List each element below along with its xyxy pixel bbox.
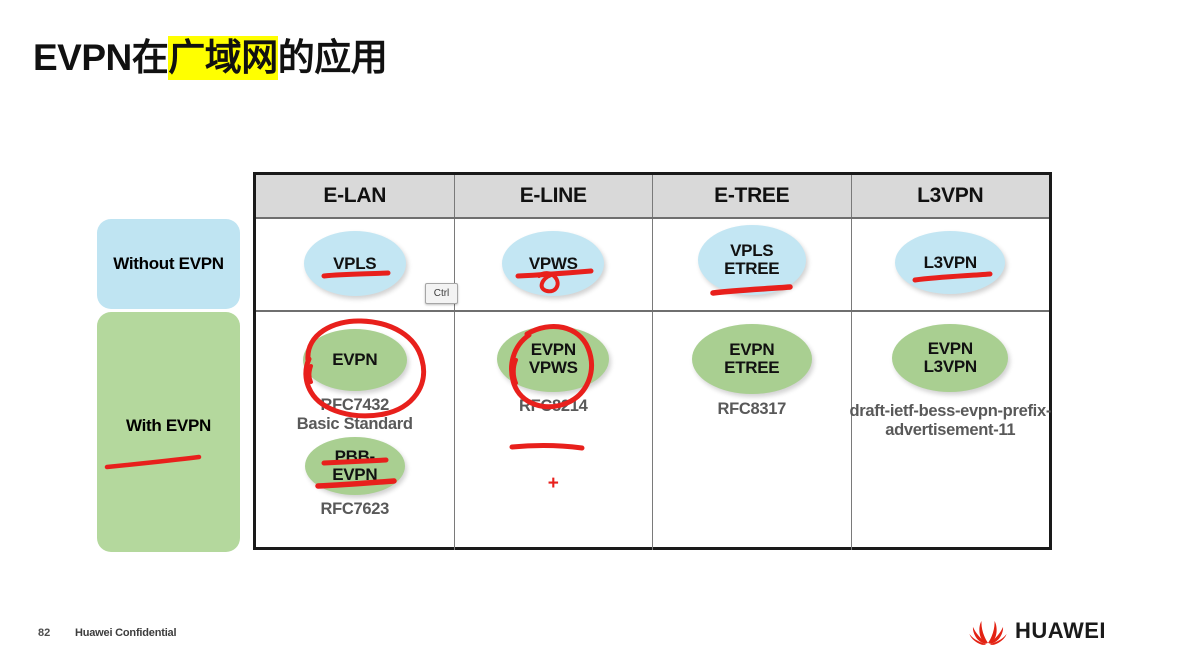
title-prefix: EVPN在 — [33, 37, 168, 78]
node-l3vpn: L3VPN — [895, 231, 1005, 294]
node-vpws-label: VPWS — [529, 255, 578, 273]
huawei-logo-text: HUAWEI — [1015, 618, 1106, 644]
node-evpn-etree-line1: EVPN — [729, 341, 774, 359]
caption-draft-ietf-bess: draft-ietf-bess-evpn-prefix-advertisemen… — [844, 402, 1058, 439]
node-l3vpn-label: L3VPN — [924, 254, 977, 272]
node-vpws: VPWS — [502, 231, 604, 296]
caption-rfc7623: RFC7623 — [256, 500, 454, 519]
title-suffix: 的应用 — [278, 37, 388, 78]
ctrl-key-label: Ctrl — [434, 288, 450, 299]
node-pbb-evpn-line2: EVPN — [332, 466, 377, 484]
node-pbb-evpn-line1: PBB- — [335, 448, 375, 466]
node-vpls-etree: VPLS ETREE — [698, 225, 806, 295]
caption-rfc7432: RFC7432 — [256, 396, 454, 415]
node-vpls-etree-line2: ETREE — [724, 260, 779, 278]
node-evpn: EVPN — [303, 329, 407, 391]
node-evpn-etree: EVPN ETREE — [692, 324, 812, 394]
side-label-without-evpn: Without EVPN — [97, 219, 240, 309]
node-evpn-vpws-line2: VPWS — [529, 359, 578, 377]
page-title: EVPN在广域网的应用 — [33, 36, 387, 80]
caption-rfc8214: RFC8214 — [455, 397, 653, 416]
table-header-e-lan: E-LAN — [256, 175, 455, 217]
title-highlight: 广域网 — [168, 36, 278, 80]
cell-with-e-tree: EVPN ETREE RFC8317 — [653, 312, 852, 550]
node-pbb-evpn: PBB- EVPN — [305, 437, 405, 495]
node-vpls: VPLS — [304, 231, 406, 296]
caption-basic-standard: Basic Standard — [256, 415, 454, 434]
table-row: VPLS VPWS VPLS ETREE — [256, 219, 1049, 312]
cell-with-e-lan: EVPN RFC7432 Basic Standard PBB- EVPN RF… — [256, 312, 455, 550]
cell-without-e-tree: VPLS ETREE — [653, 219, 852, 310]
node-evpn-l3vpn: EVPN L3VPN — [892, 324, 1008, 392]
ctrl-key-badge[interactable]: Ctrl — [425, 283, 458, 304]
table-header-e-line: E-LINE — [455, 175, 654, 217]
table-header-e-tree: E-TREE — [653, 175, 852, 217]
node-evpn-l3vpn-line2: L3VPN — [924, 358, 977, 376]
footer-confidential-text: Huawei Confidential — [75, 627, 176, 639]
node-vpls-label: VPLS — [333, 255, 376, 273]
table-row: EVPN RFC7432 Basic Standard PBB- EVPN RF… — [256, 312, 1049, 550]
cell-without-e-line: VPWS — [455, 219, 654, 310]
slide-canvas: EVPN在广域网的应用 Without EVPN With EVPN E-LAN… — [0, 0, 1181, 662]
cell-with-e-line: EVPN VPWS RFC8214 + — [455, 312, 654, 550]
huawei-logo: HUAWEI — [969, 616, 1106, 646]
node-evpn-label: EVPN — [332, 351, 377, 369]
footer-page-number: 82 — [38, 627, 50, 639]
cell-with-l3vpn: EVPN L3VPN draft-ietf-bess-evpn-prefix-a… — [852, 312, 1050, 550]
table-header-l3vpn: L3VPN — [852, 175, 1050, 217]
node-evpn-l3vpn-line1: EVPN — [928, 340, 973, 358]
node-evpn-vpws: EVPN VPWS — [497, 326, 609, 392]
side-label-with-evpn: With EVPN — [97, 312, 240, 552]
table-header-row: E-LAN E-LINE E-TREE L3VPN — [256, 175, 1049, 219]
cursor-plus-icon: + — [548, 474, 559, 493]
comparison-table: E-LAN E-LINE E-TREE L3VPN VPLS VPWS — [253, 172, 1052, 550]
side-label-with-text: With EVPN — [97, 416, 240, 436]
huawei-flower-icon — [969, 616, 1007, 646]
node-evpn-vpws-line1: EVPN — [531, 341, 576, 359]
node-vpls-etree-line1: VPLS — [730, 242, 773, 260]
node-evpn-etree-line2: ETREE — [724, 359, 779, 377]
cell-without-l3vpn: L3VPN — [852, 219, 1050, 310]
caption-rfc8317: RFC8317 — [653, 400, 851, 419]
side-label-without-text: Without EVPN — [113, 254, 224, 274]
